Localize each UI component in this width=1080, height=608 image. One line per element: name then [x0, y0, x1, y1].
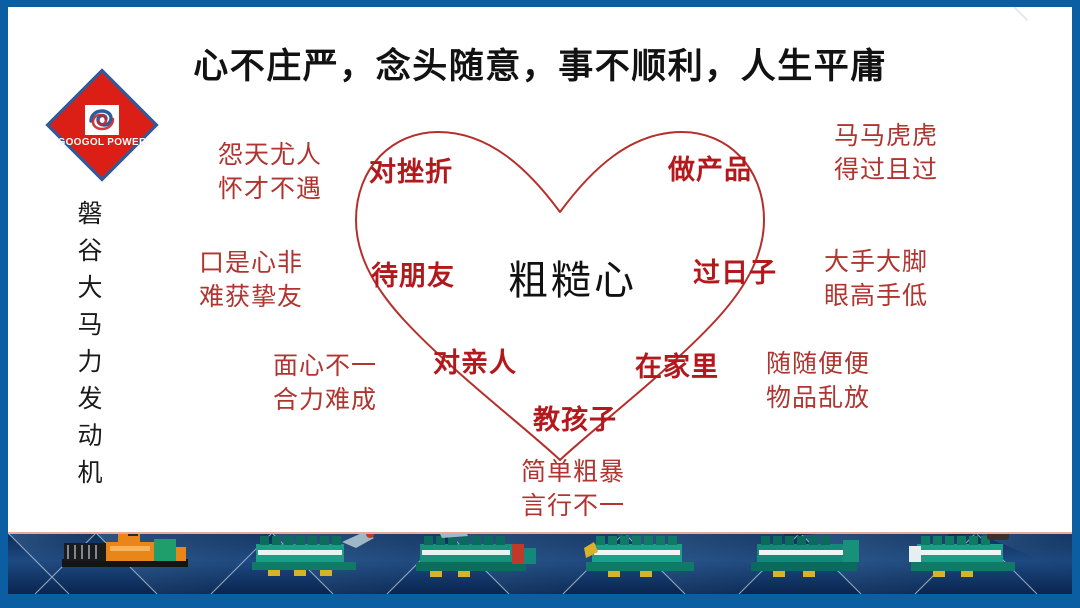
outer-label-line: 得过且过 [834, 154, 938, 188]
brand-vertical-char: 马 [68, 307, 112, 344]
page-title: 心不庄严，念头随意，事不顺利，人生平庸 [0, 38, 1080, 89]
outer-label-line: 马马虎虎 [834, 120, 938, 154]
outer-label-line: 随随便便 [766, 348, 870, 382]
outer-label-group: 大手大脚 眼高手低 [824, 246, 928, 314]
outer-label-line: 怀才不遇 [218, 173, 322, 207]
outer-label-line: 难获挚友 [199, 281, 303, 315]
logo-text-line1: GOOGOL [58, 137, 105, 148]
brand-vertical-char: 磐 [68, 196, 112, 233]
outer-label-line: 大手大脚 [824, 246, 928, 280]
slide-canvas: GOOGOL POWER 磐谷大马力发动机 心不庄严，念头随意，事不顺利，人生平… [0, 0, 1080, 608]
outer-label-group: 马马虎虎 得过且过 [834, 120, 938, 188]
band-accent-line [8, 532, 1072, 534]
brand-vertical-char: 谷 [68, 233, 112, 270]
outer-label-group: 随随便便 物品乱放 [766, 348, 870, 416]
inner-label: 对亲人 [433, 348, 517, 378]
engine-photo-gas-engine-green-3 [578, 533, 708, 584]
frame-border-top [0, 0, 1080, 7]
outer-label-group: 简单粗暴 言行不一 [521, 456, 625, 524]
engine-photo-generator-set-orange [58, 533, 193, 584]
inner-label: 对挫折 [369, 157, 453, 187]
inner-label: 过日子 [693, 258, 777, 288]
brand-vertical-char: 发 [68, 381, 112, 418]
outer-label-line: 眼高手低 [824, 280, 928, 314]
engine-photo-gas-engine-green-5 [903, 533, 1031, 584]
outer-label-line: 口是心非 [199, 247, 303, 281]
outer-label-line: 面心不一 [273, 350, 377, 384]
brand-vertical-char: 大 [68, 270, 112, 307]
outer-label-group: 面心不一 合力难成 [273, 350, 377, 418]
brand-vertical-char: 力 [68, 344, 112, 381]
heart-center-word: 粗糙心 [508, 248, 637, 306]
inner-label: 在家里 [635, 352, 719, 382]
outer-label-line: 物品乱放 [766, 382, 870, 416]
frame-border-right [1072, 0, 1080, 608]
frame-border-bottom [0, 594, 1080, 608]
engine-product-strip [8, 533, 1072, 594]
spiral-icon [88, 108, 116, 132]
outer-label-group: 口是心非 难获挚友 [199, 247, 303, 315]
brand-vertical-char: 动 [68, 418, 112, 455]
engine-photo-gas-engine-green-4 [743, 533, 871, 584]
outer-label-line: 怨天尤人 [218, 139, 322, 173]
engine-photo-gas-engine-green-1 [246, 533, 376, 584]
brand-vertical-char: 机 [68, 455, 112, 492]
outer-label-line: 言行不一 [521, 490, 625, 524]
outer-label-line: 简单粗暴 [521, 456, 625, 490]
inner-label: 做产品 [668, 155, 752, 185]
engine-photo-gas-engine-green-2 [408, 533, 540, 584]
inner-label: 教孩子 [533, 405, 617, 435]
frame-border-left [0, 0, 8, 608]
logo-text-line2: POWER [107, 137, 146, 148]
inner-label: 待朋友 [371, 261, 455, 291]
outer-label-line: 合力难成 [273, 384, 377, 418]
brand-vertical-text: 磐谷大马力发动机 [68, 196, 112, 492]
outer-label-group: 怨天尤人 怀才不遇 [218, 139, 322, 207]
logo-wordmark: GOOGOL POWER [58, 138, 147, 148]
logo-white-square [85, 105, 119, 135]
